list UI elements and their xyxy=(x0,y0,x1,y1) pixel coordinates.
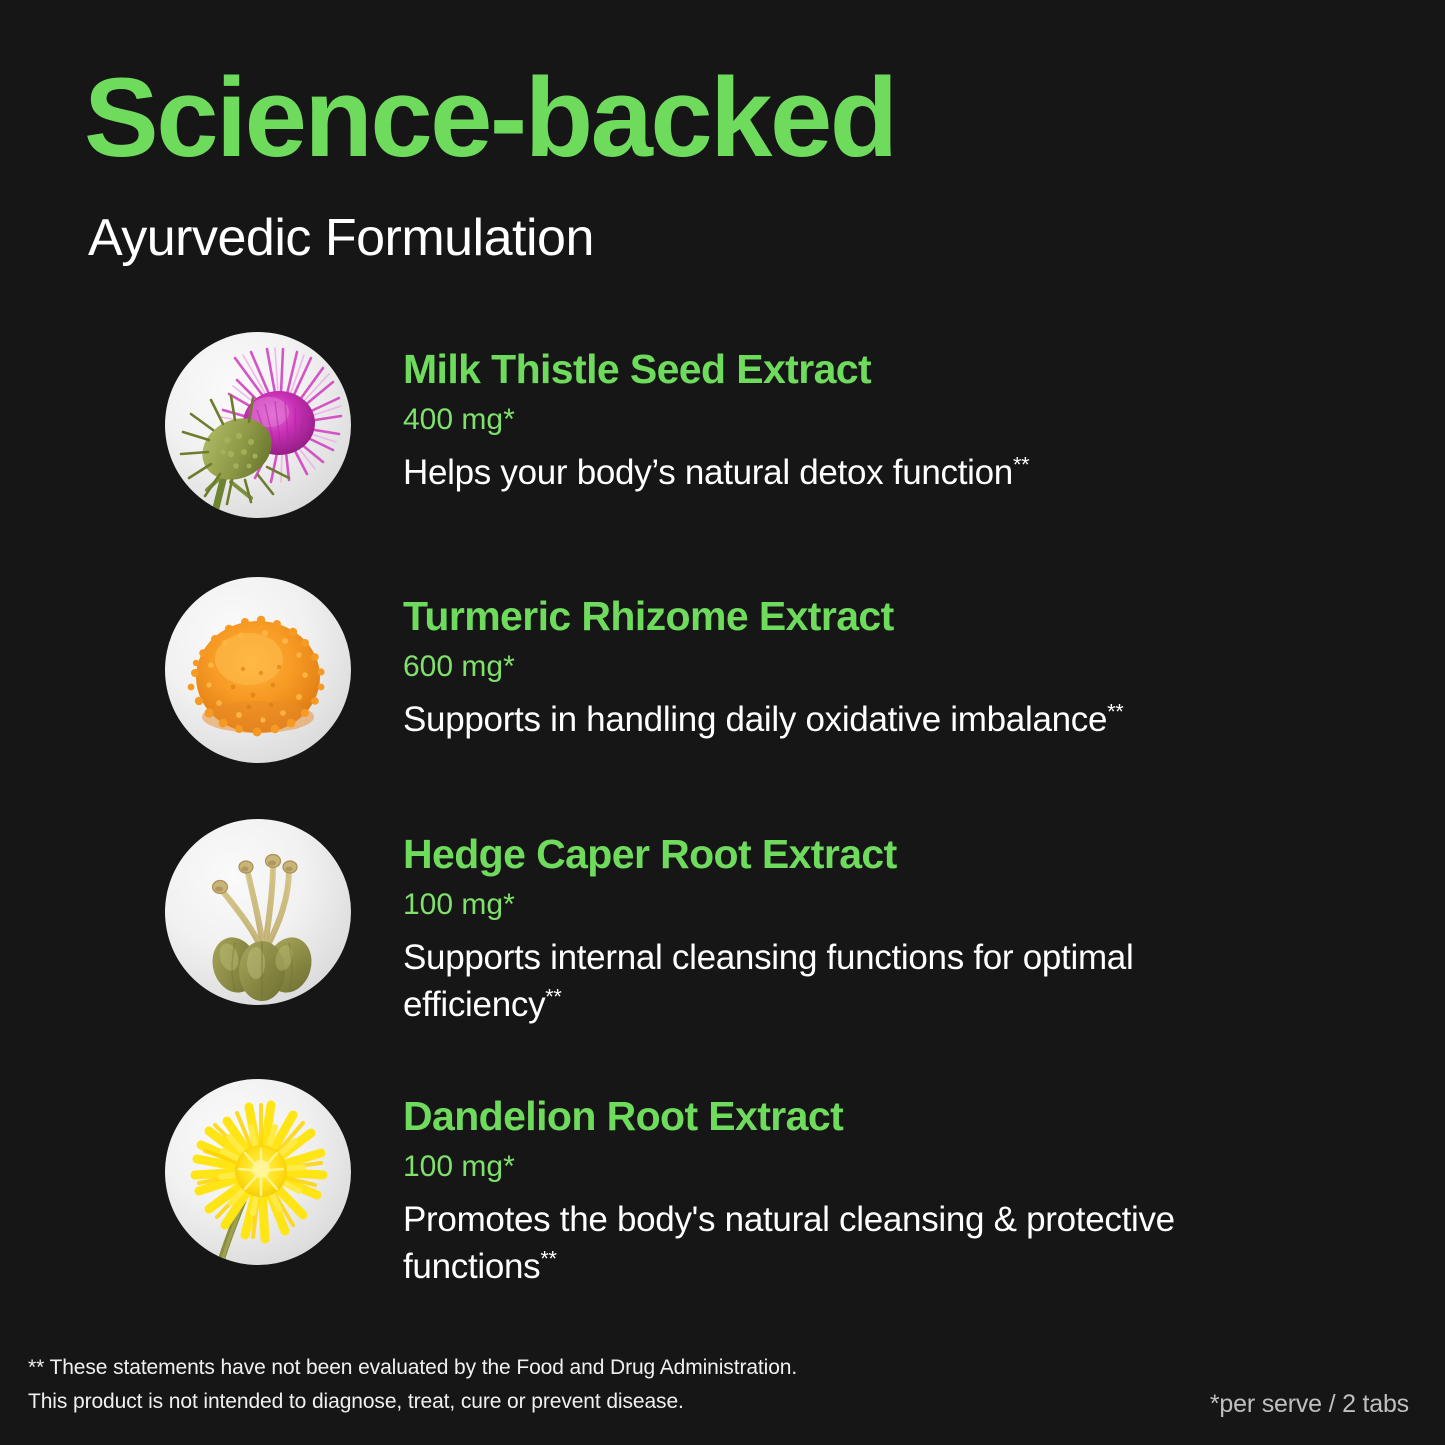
ingredient-description: Supports internal cleansing functions fo… xyxy=(403,935,1283,1028)
list-item: Hedge Caper Root Extract 100 mg* Support… xyxy=(0,807,1445,1069)
milk-thistle-flower-icon xyxy=(165,332,351,518)
footnote-marker: ** xyxy=(1013,451,1029,476)
per-serve-note: *per serve / 2 tabs xyxy=(1210,1390,1409,1419)
ingredient-dose: 100 mg* xyxy=(403,888,1445,921)
ingredient-dose: 600 mg* xyxy=(403,650,1445,683)
ingredient-description-text: Helps your body’s natural detox function xyxy=(403,453,1013,492)
caper-berry-icon xyxy=(165,819,351,1005)
page-subtitle: Ayurvedic Formulation xyxy=(88,212,1364,264)
ingredient-description-text: Promotes the body's natural cleansing & … xyxy=(403,1200,1175,1286)
page-title: Science-backed xyxy=(84,62,1364,174)
ingredient-text: Dandelion Root Extract 100 mg* Promotes … xyxy=(351,1069,1445,1290)
ingredient-description-text: Supports internal cleansing functions fo… xyxy=(403,938,1133,1024)
ingredient-name: Milk Thistle Seed Extract xyxy=(403,348,1445,391)
ingredient-text: Milk Thistle Seed Extract 400 mg* Helps … xyxy=(351,322,1445,497)
fda-disclaimer: ** These statements have not been evalua… xyxy=(28,1351,797,1419)
header: Science-backed Ayurvedic Formulation xyxy=(84,62,1364,264)
footnote-marker: ** xyxy=(1107,698,1123,723)
ingredient-dose: 400 mg* xyxy=(403,403,1445,436)
ingredient-list: Milk Thistle Seed Extract 400 mg* Helps … xyxy=(0,322,1445,1319)
list-item: Turmeric Rhizome Extract 600 mg* Support… xyxy=(0,569,1445,807)
ingredient-name: Hedge Caper Root Extract xyxy=(403,833,1445,876)
ingredient-name: Turmeric Rhizome Extract xyxy=(403,595,1445,638)
ingredient-description: Supports in handling daily oxidative imb… xyxy=(403,697,1283,744)
fda-disclaimer-line-2: This product is not intended to diagnose… xyxy=(28,1385,797,1419)
ingredient-description-text: Supports in handling daily oxidative imb… xyxy=(403,700,1107,739)
turmeric-powder-icon xyxy=(165,577,351,763)
footnote-marker: ** xyxy=(545,983,561,1008)
footer: ** These statements have not been evalua… xyxy=(28,1351,1417,1419)
ingredient-dose: 100 mg* xyxy=(403,1150,1445,1183)
ingredient-text: Hedge Caper Root Extract 100 mg* Support… xyxy=(351,807,1445,1028)
footnote-marker: ** xyxy=(540,1245,556,1270)
dandelion-flower-icon xyxy=(165,1079,351,1265)
list-item: Dandelion Root Extract 100 mg* Promotes … xyxy=(0,1069,1445,1319)
ingredient-description: Promotes the body's natural cleansing & … xyxy=(403,1197,1283,1290)
ingredient-name: Dandelion Root Extract xyxy=(403,1095,1445,1138)
ingredient-description: Helps your body’s natural detox function… xyxy=(403,450,1283,497)
product-ingredients-infographic: Science-backed Ayurvedic Formulation xyxy=(0,0,1445,1445)
ingredient-text: Turmeric Rhizome Extract 600 mg* Support… xyxy=(351,569,1445,744)
fda-disclaimer-line-1: ** These statements have not been evalua… xyxy=(28,1351,797,1385)
list-item: Milk Thistle Seed Extract 400 mg* Helps … xyxy=(0,322,1445,569)
